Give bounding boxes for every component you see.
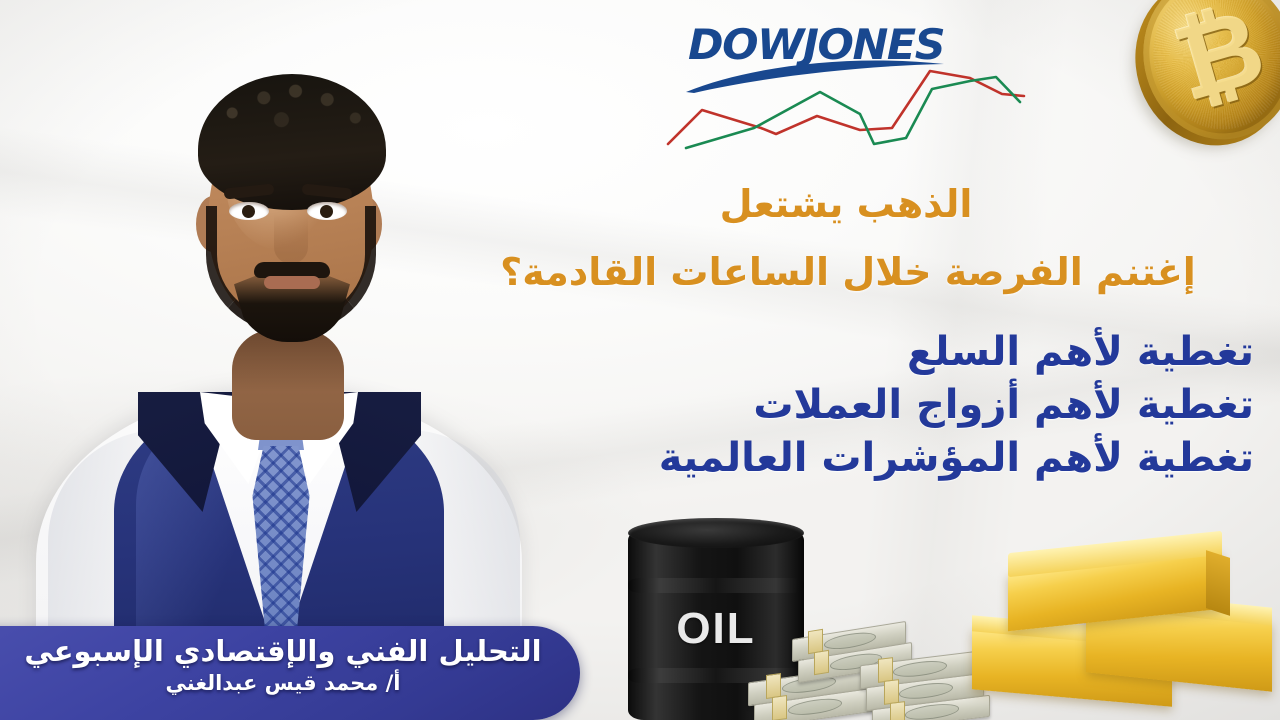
coverage-item-commodities: تغطية لأهم السلع: [454, 326, 1254, 379]
barrel-lid: [628, 518, 804, 548]
gold-bar-top-side: [1206, 550, 1230, 616]
coverage-list: تغطية لأهم السلع تغطية لأهم أزواج العملا…: [454, 326, 1254, 484]
poster-canvas: DOWJONES ₿: [0, 0, 1280, 720]
coin-face: ₿: [1124, 0, 1280, 157]
money-band: [772, 695, 787, 720]
portrait-pupil-right: [320, 205, 333, 218]
portrait-hair-texture: [204, 76, 380, 160]
portrait-lips: [264, 276, 320, 289]
money-band: [890, 701, 905, 720]
money-band: [814, 650, 829, 675]
chart-series-green-index: [686, 77, 1020, 148]
bitcoin-coin: ₿: [1128, 0, 1280, 162]
barrel-rib-top: [628, 578, 804, 593]
banner-title: التحليل الفني والإقتصادي الإسبوعي: [8, 634, 558, 668]
headline-primary: الذهب يشتعل: [436, 182, 1256, 226]
portrait-nose: [274, 214, 308, 264]
coverage-item-currency-pairs: تغطية لأهم أزواج العملات: [454, 379, 1254, 432]
market-index-chart: [664, 56, 1030, 166]
headline-secondary: إغتنم الفرصة خلال الساعات القادمة؟: [428, 250, 1268, 294]
presenter-name-banner: التحليل الفني والإقتصادي الإسبوعي أ/ محم…: [0, 626, 580, 720]
portrait-pupil-left: [242, 205, 255, 218]
banner-text-group: التحليل الفني والإقتصادي الإسبوعي أ/ محم…: [8, 634, 558, 695]
gold-bars: [958, 520, 1280, 720]
banner-subtitle: أ/ محمد قيس عبدالغني: [8, 671, 558, 695]
coverage-item-global-indices: تغطية لأهم المؤشرات العالمية: [454, 432, 1254, 485]
